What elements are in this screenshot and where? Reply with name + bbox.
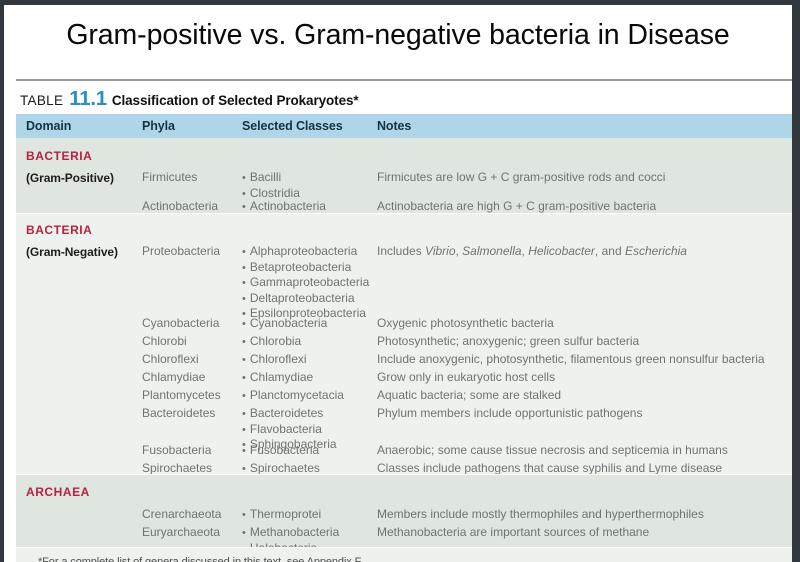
cell-notes: Aquatic bacteria; some are stalked [377, 388, 561, 403]
table-section-bacteria-gram-negative: BACTERIA (Gram-Negative) Proteobacteria … [16, 213, 792, 474]
column-header-selected-classes: Selected Classes [242, 119, 343, 133]
section-divider [16, 474, 792, 475]
prokaryote-classification-table: Domain Phyla Selected Classes Notes BACT… [16, 114, 792, 562]
cell-notes: Includes Vibrio, Salmonella, Helicobacte… [377, 244, 687, 259]
cell-phyla: Chlorobi [142, 334, 187, 349]
cell-phyla: Bacteroidetes [142, 406, 215, 421]
cell-notes: Include anoxygenic, photosynthetic, fila… [377, 352, 765, 367]
cell-phyla: Chloroflexi [142, 352, 199, 367]
cell-selected-classes: Chloroflexi [242, 352, 307, 368]
cell-selected-classes: Alphaproteobacteria Betaproteobacteria G… [242, 244, 369, 322]
table-row: Proteobacteria [142, 244, 220, 259]
section-label-domain: ARCHAEA [26, 485, 90, 499]
column-header-domain: Domain [26, 119, 71, 133]
table-row: Chlorobi [142, 334, 187, 349]
section-divider [16, 547, 792, 548]
class-item: Cyanobacteria [242, 316, 327, 332]
table-row: Cyanobacteria [142, 316, 219, 331]
table-row: Fusobacteria [142, 443, 211, 458]
table-caption: TABLE 11.1 Classification of Selected Pr… [20, 87, 359, 109]
section-label-domain: BACTERIA [26, 149, 92, 163]
section-divider [16, 213, 792, 214]
class-item: Bacteroidetes [242, 406, 337, 422]
cell-phyla: Actinobacteria [142, 199, 218, 214]
class-item: Chlorobia [242, 334, 301, 350]
cell-notes: Photosynthetic; anoxygenic; green sulfur… [377, 334, 639, 349]
class-item: Bacilli [242, 170, 300, 186]
table-footnote: *For a complete list of genera discussed… [38, 556, 363, 562]
class-item: Deltaproteobacteria [242, 291, 369, 307]
class-item: Thermoprotei [242, 507, 321, 523]
table-section-archaea: ARCHAEA Crenarchaeota Thermoprotei Membe… [16, 474, 792, 547]
cell-notes: Grow only in eukaryotic host cells [377, 370, 555, 385]
notes-text: Grow only in eukaryotic host cells [377, 370, 555, 385]
cell-phyla: Chlamydiae [142, 370, 205, 385]
column-header-notes: Notes [377, 119, 411, 133]
table-number: 11.1 [69, 87, 107, 111]
table-footnote-band: *For a complete list of genera discussed… [16, 547, 792, 562]
table-section-bacteria-gram-positive: BACTERIA (Gram-Positive) Firmicutes Baci… [16, 138, 792, 213]
cell-selected-classes: Chlorobia [242, 334, 301, 350]
table-row: Actinobacteria [142, 199, 218, 214]
cell-phyla: Firmicutes [142, 170, 197, 185]
class-item: Planctomycetacia [242, 388, 344, 404]
class-item: Gammaproteobacteria [242, 275, 369, 291]
cell-notes: Members include mostly thermophiles and … [377, 507, 704, 522]
cell-selected-classes: Planctomycetacia [242, 388, 344, 404]
table-label: TABLE [20, 93, 63, 108]
notes-text: Includes Vibrio, Salmonella, Helicobacte… [377, 244, 687, 259]
table-row: Crenarchaeota [142, 507, 221, 522]
cell-phyla: Cyanobacteria [142, 316, 219, 331]
class-item: Alphaproteobacteria [242, 244, 369, 260]
divider-above-table [16, 79, 792, 81]
class-item: Chloroflexi [242, 352, 307, 368]
notes-text: Methanobacteria are important sources of… [377, 525, 649, 540]
section-sublabel-gram-negative: (Gram-Negative) [26, 245, 118, 259]
cell-notes: Oxygenic photosynthetic bacteria [377, 316, 554, 331]
cell-selected-classes: Thermoprotei [242, 507, 321, 523]
cell-phyla: Plantomycetes [142, 388, 221, 403]
section-label-domain: BACTERIA [26, 223, 92, 237]
cell-phyla: Fusobacteria [142, 443, 211, 458]
page-title: Gram-positive vs. Gram-negative bacteria… [4, 19, 792, 52]
cell-phyla: Euryarchaeota [142, 525, 220, 540]
notes-text: Anaerobic; some cause tissue necrosis an… [377, 443, 728, 458]
table-row: Bacteroidetes [142, 406, 215, 421]
class-item: Methanobacteria [242, 525, 339, 541]
cell-notes: Phylum members include opportunistic pat… [377, 406, 642, 421]
cell-notes: Firmicutes are low G + C gram-positive r… [377, 170, 665, 185]
cell-selected-classes: Bacilli Clostridia [242, 170, 300, 201]
slide-canvas: Gram-positive vs. Gram-negative bacteria… [0, 0, 800, 562]
cell-selected-classes: Cyanobacteria [242, 316, 327, 332]
cell-selected-classes: Chlamydiae [242, 370, 313, 386]
class-item: Betaproteobacteria [242, 260, 369, 276]
table-title: Classification of Selected Prokaryotes* [112, 93, 359, 108]
notes-text: Include anoxygenic, photosynthetic, fila… [377, 352, 765, 367]
notes-text: Aquatic bacteria; some are stalked [377, 388, 561, 403]
table-row: Chloroflexi [142, 352, 199, 367]
table-row: Plantomycetes [142, 388, 221, 403]
cell-notes: Methanobacteria are important sources of… [377, 525, 649, 540]
notes-text: Members include mostly thermophiles and … [377, 507, 704, 522]
notes-text: Actinobacteria are high G + C gram-posit… [377, 199, 656, 214]
cell-phyla: Crenarchaeota [142, 507, 221, 522]
section-sublabel-gram-positive: (Gram-Positive) [26, 171, 114, 185]
table-row: Chlamydiae [142, 370, 205, 385]
notes-text: Oxygenic photosynthetic bacteria [377, 316, 554, 331]
cell-phyla: Proteobacteria [142, 244, 220, 259]
class-item: Flavobacteria [242, 422, 337, 438]
class-item: Fusobacteria [242, 443, 319, 459]
class-item: Chlamydiae [242, 370, 313, 386]
table-row: Firmicutes [142, 170, 197, 185]
notes-text: Photosynthetic; anoxygenic; green sulfur… [377, 334, 639, 349]
cell-notes: Actinobacteria are high G + C gram-posit… [377, 199, 656, 214]
cell-selected-classes: Fusobacteria [242, 443, 319, 459]
notes-text: Phylum members include opportunistic pat… [377, 406, 642, 421]
column-header-phyla: Phyla [142, 119, 175, 133]
table-row: Euryarchaeota [142, 525, 220, 540]
notes-text: Firmicutes are low G + C gram-positive r… [377, 170, 665, 185]
table-header-row: Domain Phyla Selected Classes Notes [16, 114, 792, 138]
cell-notes: Anaerobic; some cause tissue necrosis an… [377, 443, 728, 458]
